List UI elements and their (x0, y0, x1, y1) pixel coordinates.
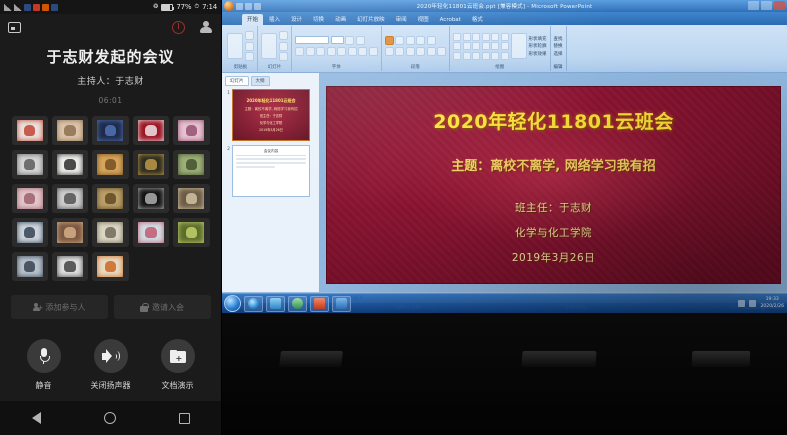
powerpoint-body: 幻灯片 大纲 1 2020年轻化11801云班会 主题：离校不离学, 网络学习我… (222, 73, 787, 292)
participant-22 (57, 256, 83, 277)
align-center-icon[interactable] (395, 47, 404, 56)
add-participant-button[interactable]: + 添加参与人 (11, 295, 108, 319)
quick-access-toolbar[interactable] (224, 1, 261, 11)
battery-percent: 77% (176, 3, 191, 11)
app-notification-icon-4 (51, 4, 58, 11)
participant-18 (97, 222, 123, 243)
ribbon-group-slides: 幻灯片 (258, 26, 292, 71)
format-painter-icon[interactable] (245, 52, 254, 61)
slide-thumbnail-1[interactable]: 2020年轻化11801云班会 主题：离校不离学, 网络学习我有招 班主任：于志… (232, 89, 310, 141)
participants-icon[interactable] (199, 21, 213, 34)
participant-9 (138, 154, 164, 175)
thumb2-bullet (236, 162, 306, 164)
layout-icon[interactable] (279, 31, 288, 40)
participant-4 (138, 120, 164, 141)
participant-tile[interactable] (133, 184, 169, 213)
participant-17 (57, 222, 83, 243)
bullets-icon[interactable] (385, 36, 394, 45)
participant-3 (97, 120, 123, 141)
quick-styles-button[interactable] (511, 33, 527, 59)
add-participant-label: 添加参与人 (46, 302, 86, 313)
toolbar-right-actions (172, 21, 213, 34)
volume-icon[interactable] (749, 300, 756, 307)
participant-tile[interactable] (173, 116, 209, 145)
save-icon[interactable] (236, 3, 243, 10)
participant-21 (17, 256, 43, 277)
signal-icon (4, 4, 12, 11)
shape-item (501, 52, 509, 60)
shape-outline-label[interactable]: 形状轮廓 (529, 43, 547, 49)
powerpoint-icon (314, 298, 325, 309)
participant-tile[interactable] (173, 184, 209, 213)
word-document-icon (336, 298, 347, 309)
screenshot-root: ❂ 77% ⏱ 7:14 于志财发起的会议 主持人：于志财 06:01 + 添加… (0, 0, 787, 435)
participant-2 (57, 120, 83, 141)
shape-item (501, 33, 509, 41)
change-case-icon[interactable] (358, 47, 367, 56)
speaker-label: 关闭扬声器 (91, 380, 131, 391)
participant-14 (138, 188, 164, 209)
participant-tile[interactable] (12, 252, 48, 281)
group-label-slides: 幻灯片 (268, 64, 282, 70)
internet-explorer-icon (248, 298, 259, 309)
system-tray: 19:33 2020/2/26 (738, 297, 787, 309)
office-orb-icon[interactable] (224, 1, 234, 11)
thumb2-heading: 会议内容 (236, 149, 306, 156)
thumb2-bullet (236, 158, 306, 160)
underline-icon[interactable] (316, 47, 325, 56)
align-right-icon[interactable] (406, 47, 415, 56)
participant-19 (138, 222, 164, 243)
taskbar-item-media[interactable] (288, 296, 307, 312)
ribbon-tab-2[interactable]: 设计 (286, 14, 307, 26)
phone-meeting-app: ❂ 77% ⏱ 7:14 于志财发起的会议 主持人：于志财 06:01 + 添加… (0, 0, 222, 435)
slide-subtitle: 主题：离校不离学, 网络学习我有招 (451, 155, 655, 174)
participant-tile[interactable] (92, 252, 128, 281)
participant-tile[interactable] (92, 218, 128, 247)
participant-tile[interactable] (12, 184, 48, 213)
mute-label: 静音 (36, 380, 52, 391)
group-label-font: 字体 (332, 64, 341, 70)
shape-item (491, 52, 499, 60)
meeting-app-toolbar (0, 14, 221, 40)
ribbon-tab-6[interactable]: 审阅 (391, 14, 412, 26)
back-nav-icon[interactable] (32, 412, 41, 424)
thumb-subtitle: 主题：离校不离学, 网络学习我有招 (244, 106, 297, 111)
document-share-icon: + (170, 350, 186, 363)
participant-tile[interactable] (52, 218, 88, 247)
shape-item (472, 52, 480, 60)
thumbnail-row-1[interactable]: 1 2020年轻化11801云班会 主题：离校不离学, 网络学习我有招 班主任：… (225, 89, 316, 141)
powerpoint-titlebar: 2020年轻化11801云班会.ppt [兼容模式] - Microsoft P… (222, 0, 787, 12)
group-label-drawing: 绘图 (495, 64, 504, 70)
participant-16 (17, 222, 43, 243)
start-orb-icon[interactable] (224, 295, 241, 312)
participant-10 (178, 154, 204, 175)
thumb-line-2: 化学与化工学院 (260, 120, 282, 125)
participant-1 (17, 120, 43, 141)
group-label-editing: 编辑 (554, 64, 563, 70)
thumb2-bullet (236, 166, 275, 168)
participant-tile[interactable] (52, 116, 88, 145)
home-nav-icon[interactable] (104, 412, 116, 424)
shape-effects-label[interactable]: 形状效果 (529, 51, 547, 57)
ribbon-tab-4[interactable]: 动画 (330, 14, 351, 26)
app-notification-icon-3 (42, 4, 49, 11)
ribbon-group-drawing: 形状填充 形状轮廓 形状效果 绘图 (450, 26, 551, 71)
meeting-title: 于志财发起的会议 (0, 46, 221, 67)
document-share-label: 文档演示 (162, 380, 194, 391)
speaker-icon (102, 349, 120, 363)
thumbnail-number-1: 1 (225, 89, 230, 141)
copy-icon[interactable] (245, 42, 254, 51)
participant-tile[interactable] (52, 252, 88, 281)
maximize-icon[interactable] (761, 1, 772, 10)
numbering-icon[interactable] (395, 36, 404, 45)
shape-item (482, 52, 490, 60)
shapes-gallery[interactable] (453, 33, 509, 60)
taskbar-clock[interactable]: 19:33 2020/2/26 (760, 297, 784, 309)
minimize-window-icon[interactable] (8, 22, 21, 33)
ribbon-tab-1[interactable]: 插入 (264, 14, 285, 26)
laptop-bezel-bottom (222, 313, 787, 435)
participant-tile[interactable] (173, 150, 209, 179)
shape-item (453, 52, 461, 60)
shape-item (463, 52, 471, 60)
clock-time: 19:33 (766, 297, 779, 302)
alarm-icon: ⏱ (194, 4, 199, 10)
shape-item (453, 42, 461, 50)
recents-nav-icon[interactable] (179, 413, 190, 424)
battery-icon (161, 4, 173, 11)
ribbon-group-clipboard: 剪贴板 (224, 26, 258, 71)
thumb-title: 2020年轻化11801云班会 (246, 98, 295, 104)
reset-icon[interactable] (279, 42, 288, 51)
decrease-indent-icon[interactable] (406, 36, 415, 45)
slide-body: 班主任：于志财 化学与化工学院 2019年3月26日 (512, 200, 595, 265)
participant-tile[interactable] (52, 184, 88, 213)
slide-thumbnail-pane: 幻灯片 大纲 1 2020年轻化11801云班会 主题：离校不离学, 网络学习我… (222, 73, 320, 292)
invite-to-meeting-label: 邀请入会 (152, 302, 184, 313)
section-icon[interactable] (279, 52, 288, 61)
participant-8 (97, 154, 123, 175)
clock-date: 2020/2/26 (760, 304, 784, 309)
ribbon-tab-8[interactable]: Acrobat (435, 16, 466, 26)
participant-grid (12, 116, 210, 281)
end-call-icon[interactable] (172, 21, 185, 34)
pane-tab-slides[interactable]: 幻灯片 (225, 76, 249, 86)
keyboard-reflection-3 (692, 351, 751, 367)
ribbon-tabs: 开始插入设计切换动画幻灯片放映审阅视图Acrobat格式 (222, 12, 787, 25)
slide-thumbnail-2[interactable]: 会议内容 (232, 145, 310, 197)
pane-tabs: 幻灯片 大纲 (225, 76, 316, 86)
laptop-photo: 2020年轻化11801云班会.ppt [兼容模式] - Microsoft P… (222, 0, 787, 435)
participant-20 (178, 222, 204, 243)
group-label-paragraph: 段落 (411, 64, 420, 70)
shape-item (472, 42, 480, 50)
replace-label[interactable]: 替换 (554, 43, 563, 49)
cut-icon[interactable] (245, 31, 254, 40)
shape-item (491, 42, 499, 50)
line-spacing-icon[interactable] (427, 36, 436, 45)
status-right-icons: ❂ 77% ⏱ 7:14 (153, 3, 217, 11)
network-icon[interactable] (738, 300, 745, 307)
status-clock: 7:14 (202, 3, 217, 11)
font-name-input[interactable] (295, 36, 329, 44)
participant-tile[interactable] (133, 116, 169, 145)
taskbar-item-ie[interactable] (244, 296, 263, 312)
participant-tile[interactable] (92, 184, 128, 213)
italic-icon[interactable] (306, 47, 315, 56)
close-icon[interactable] (774, 1, 785, 10)
call-controls: 静音 关闭扬声器 + 文档演示 (0, 339, 221, 391)
strikethrough-icon[interactable] (337, 47, 346, 56)
folder-explorer-icon (270, 298, 281, 309)
thumb-line-1: 班主任：于志财 (260, 113, 282, 118)
taskbar-item-powerpoint[interactable] (310, 296, 329, 312)
shape-item (482, 42, 490, 50)
ribbon-group-paragraph: 段落 (382, 26, 451, 71)
current-slide[interactable]: 2020年轻化11801云班会 主题：离校不离学, 网络学习我有招 班主任：于志… (326, 86, 781, 284)
participant-12 (57, 188, 83, 209)
speaker-button[interactable] (94, 339, 128, 373)
document-share-control[interactable]: + 文档演示 (156, 339, 200, 391)
shape-item (501, 42, 509, 50)
invite-to-meeting-button[interactable]: 邀请入会 (114, 295, 211, 319)
participant-7 (57, 154, 83, 175)
participant-tile[interactable] (92, 150, 128, 179)
ribbon-tab-5[interactable]: 幻灯片放映 (352, 14, 390, 26)
shadow-icon[interactable] (327, 47, 336, 56)
app-notification-icon-2 (33, 4, 40, 11)
shape-item (482, 33, 490, 41)
document-share-button[interactable]: + (161, 339, 195, 373)
speaker-control[interactable]: 关闭扬声器 (89, 339, 133, 391)
participant-tile[interactable] (12, 150, 48, 179)
app-notification-icon (24, 4, 31, 11)
participant-tile[interactable] (12, 218, 48, 247)
find-label[interactable]: 查找 (554, 36, 563, 42)
new-slide-button[interactable] (261, 33, 277, 59)
meeting-timer: 06:01 (0, 96, 221, 105)
shape-item (453, 33, 461, 41)
window-title: 2020年轻化11801云班会.ppt [兼容模式] - Microsoft P… (417, 2, 593, 10)
ribbon-tab-3[interactable]: 切换 (308, 14, 329, 26)
pane-tab-outline[interactable]: 大纲 (251, 76, 270, 86)
shrink-font-icon[interactable] (356, 36, 365, 45)
participant-6 (17, 154, 43, 175)
microphone-icon (39, 348, 48, 364)
laptop-screen: 2020年轻化11801云班会.ppt [兼容模式] - Microsoft P… (222, 0, 787, 313)
undo-icon[interactable] (245, 3, 252, 10)
thumbnail-row-2[interactable]: 2 会议内容 (225, 145, 316, 197)
participant-15 (178, 188, 204, 209)
shape-item (472, 33, 480, 41)
mute-control[interactable]: 静音 (22, 339, 66, 391)
mute-button[interactable] (27, 339, 61, 373)
character-spacing-icon[interactable] (348, 47, 357, 56)
meeting-host: 主持人：于志财 (0, 74, 221, 87)
taskbar-item-word[interactable] (332, 296, 351, 312)
android-status-bar: ❂ 77% ⏱ 7:14 (0, 0, 221, 14)
group-label-clipboard: 剪贴板 (234, 64, 248, 70)
participant-13 (97, 188, 123, 209)
window-buttons[interactable] (748, 1, 785, 10)
redo-icon[interactable] (254, 3, 261, 10)
keyboard-reflection-2 (521, 351, 596, 367)
status-left-icons (4, 4, 58, 11)
paste-button[interactable] (227, 33, 243, 59)
participant-tile[interactable] (133, 150, 169, 179)
minimize-icon[interactable] (748, 1, 759, 10)
ribbon-group-editing: 查找 替换 选择 编辑 (551, 26, 567, 71)
slide-title: 2020年轻化11801云班会 (433, 107, 673, 134)
participant-tile[interactable] (173, 218, 209, 247)
shape-fill-label[interactable]: 形状填充 (529, 36, 547, 42)
keyboard-reflection (279, 351, 343, 367)
ribbon-tab-0[interactable]: 开始 (242, 14, 263, 26)
ribbon-tab-9[interactable]: 格式 (467, 14, 488, 26)
shape-item (463, 33, 471, 41)
columns-icon[interactable] (427, 47, 436, 56)
powerpoint-window: 2020年轻化11801云班会.ppt [兼容模式] - Microsoft P… (222, 0, 787, 313)
ribbon: 剪贴板 幻灯片 (222, 25, 787, 73)
bold-icon[interactable] (295, 47, 304, 56)
font-size-input[interactable] (331, 36, 344, 44)
media-player-icon (292, 298, 303, 309)
shape-item (491, 33, 499, 41)
taskbar-item-explorer[interactable] (266, 296, 285, 312)
increase-indent-icon[interactable] (416, 36, 425, 45)
ribbon-tab-7[interactable]: 视图 (413, 14, 434, 26)
font-color-icon[interactable] (369, 47, 378, 56)
add-user-icon: + (33, 303, 42, 312)
justify-icon[interactable] (416, 47, 425, 56)
participant-11 (17, 188, 43, 209)
participant-tile[interactable] (52, 150, 88, 179)
invite-bar: + 添加参与人 邀请入会 (11, 295, 211, 319)
android-nav-bar (0, 401, 221, 435)
participant-23 (97, 256, 123, 277)
participant-tile[interactable] (12, 116, 48, 145)
lock-icon (140, 303, 148, 312)
text-direction-icon[interactable] (437, 47, 446, 56)
slide-line-department: 化学与化工学院 (515, 225, 592, 240)
ribbon-group-font: 字体 (292, 26, 382, 71)
thumb-line-3: 2019年3月26日 (259, 127, 283, 132)
participant-tile[interactable] (133, 218, 169, 247)
bluetooth-icon: ❂ (153, 4, 158, 10)
slide-line-date: 2019年3月26日 (512, 250, 595, 265)
grow-font-icon[interactable] (345, 36, 354, 45)
signal-icon-2 (14, 4, 22, 11)
participant-tile[interactable] (92, 116, 128, 145)
windows-taskbar: 19:33 2020/2/26 (222, 293, 787, 313)
slide-line-teacher: 班主任：于志财 (515, 200, 592, 215)
slide-stage: 2020年轻化11801云班会 主题：离校不离学, 网络学习我有招 班主任：于志… (320, 73, 787, 292)
select-label[interactable]: 选择 (554, 51, 563, 57)
shape-item (463, 42, 471, 50)
participant-5 (178, 120, 204, 141)
align-left-icon[interactable] (385, 47, 394, 56)
thumbnail-number-2: 2 (225, 145, 230, 197)
